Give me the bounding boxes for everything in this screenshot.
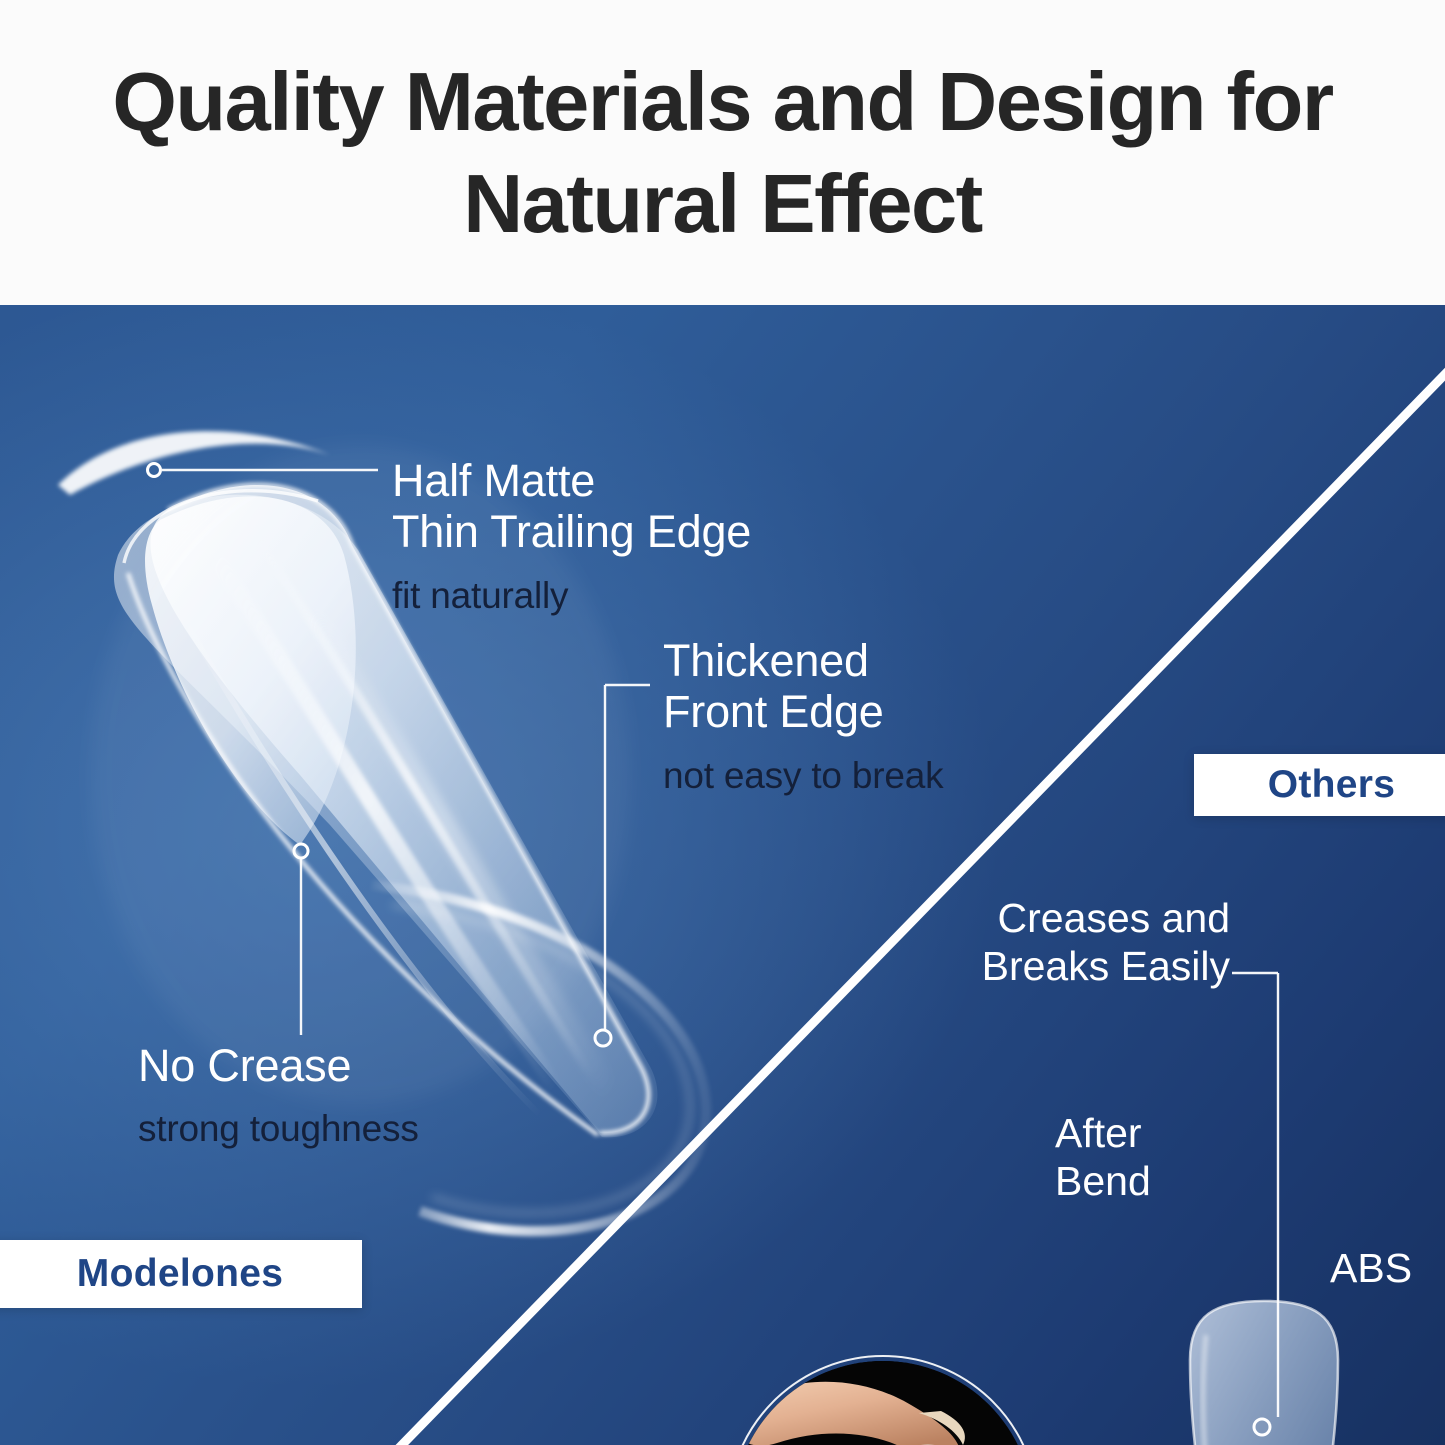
competitor-badge-label: Others: [1268, 763, 1396, 807]
callout-abs-label: ABS: [1330, 1245, 1445, 1293]
callout-creases-line2: Breaks Easily: [900, 943, 1230, 991]
callout-half-matte: Half Matte Thin Trailing Edge fit natura…: [392, 455, 862, 618]
callout-after-bend: After Bend: [1055, 1110, 1255, 1205]
brand-badge-modelones: Modelones: [0, 1240, 362, 1308]
competitor-badge-others: Others: [1194, 754, 1445, 816]
bend-test-photo: [733, 1361, 1033, 1445]
abs-nail-illustration: [1190, 1301, 1338, 1445]
comparison-panel: Half Matte Thin Trailing Edge fit natura…: [0, 305, 1445, 1445]
callout-abs: ABS: [1330, 1245, 1445, 1293]
callout-no-crease: No Crease strong toughness: [138, 1040, 568, 1152]
header-band: Quality Materials and Design for Natural…: [0, 0, 1445, 305]
callout-creases-line1: Creases and: [900, 895, 1230, 943]
infographic-page: Quality Materials and Design for Natural…: [0, 0, 1445, 1445]
callout-thickened-line1: Thickened: [663, 635, 1083, 686]
callout-no-crease-line1: No Crease: [138, 1040, 568, 1091]
callout-half-matte-sub: fit naturally: [392, 574, 862, 618]
callout-after-bend-line1: After: [1055, 1110, 1255, 1158]
callout-thickened-line2: Front Edge: [663, 686, 1083, 737]
callout-after-bend-line2: Bend: [1055, 1158, 1255, 1206]
brand-badge-label: Modelones: [77, 1252, 283, 1296]
callout-no-crease-sub: strong toughness: [138, 1107, 568, 1151]
callout-creases-breaks: Creases and Breaks Easily: [900, 895, 1230, 990]
callout-half-matte-line1: Half Matte: [392, 455, 862, 506]
callout-half-matte-line2: Thin Trailing Edge: [392, 506, 862, 557]
callout-thickened-sub: not easy to break: [663, 754, 1083, 798]
page-title: Quality Materials and Design for Natural…: [78, 51, 1368, 254]
callout-thickened-front-edge: Thickened Front Edge not easy to break: [663, 635, 1083, 798]
